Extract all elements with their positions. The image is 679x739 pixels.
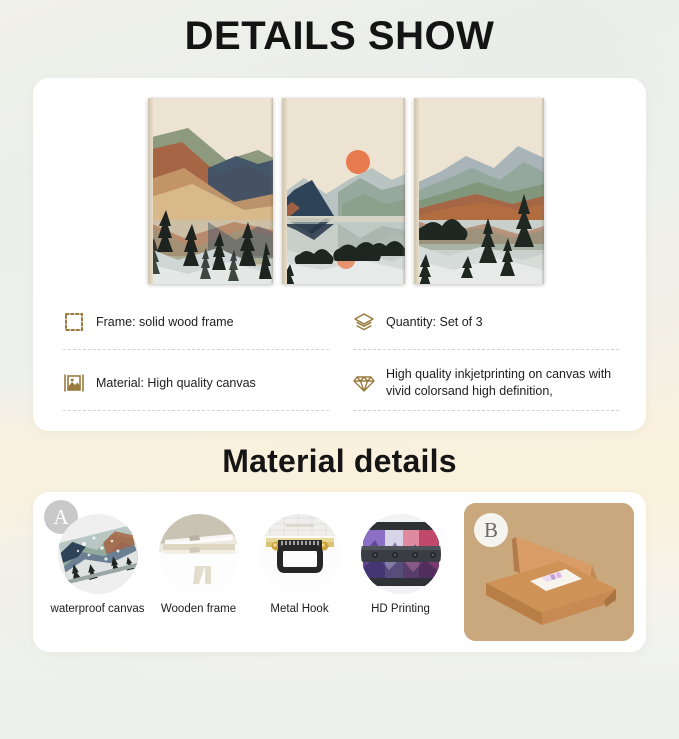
feature-label: Frame: solid wood frame <box>96 314 234 331</box>
feature-label: Quantity: Set of 3 <box>386 314 483 331</box>
feature-label: Material: High quality canvas <box>96 375 256 392</box>
canvas-edge-left <box>414 98 419 284</box>
feature-column-left: Frame: solid wood frame M <box>63 300 329 411</box>
material-thumb-label: Metal Hook <box>249 603 350 615</box>
canvas-panel-right <box>414 98 544 284</box>
material-thumb-wooden-frame: Wooden frame <box>148 514 249 615</box>
canvas-edge-left <box>282 98 287 284</box>
feature-column-right: Quantity: Set of 3 High q <box>353 300 619 411</box>
diamond-icon <box>353 372 375 394</box>
metal-hook-image <box>260 514 340 594</box>
canvas-edge-right <box>270 98 273 284</box>
wooden-frame-image <box>159 514 239 594</box>
material-thumb-hd-printing: HD Printing <box>350 514 451 615</box>
material-thumb-metal-hook: Metal Hook <box>249 514 350 615</box>
hd-printing-image <box>361 514 441 594</box>
feature-divider <box>63 349 329 350</box>
feature-row-quantity: Quantity: Set of 3 <box>353 300 619 350</box>
frame-icon <box>63 311 85 333</box>
badge-b: B <box>474 513 508 547</box>
material-thumb-list: waterproof canvas <box>47 514 451 615</box>
feature-label: High quality inkjetprinting on canvas wi… <box>386 366 619 400</box>
feature-row-frame: Frame: solid wood frame <box>63 300 329 350</box>
triptych-artwork <box>148 98 544 284</box>
section-title-material: Material details <box>0 443 679 480</box>
material-details-card: A <box>33 492 646 652</box>
feature-divider <box>63 410 329 411</box>
canvas-panel-left <box>148 98 273 284</box>
canvas-panel-center <box>282 98 405 284</box>
material-thumb-label: waterproof canvas <box>47 603 148 615</box>
canvas-edge-right <box>402 98 405 284</box>
picture-icon <box>63 372 85 394</box>
layers-icon <box>353 311 375 333</box>
canvas-edge-right <box>541 98 544 284</box>
material-thumb-label: HD Printing <box>350 603 451 615</box>
material-thumb-waterproof-canvas: waterproof canvas <box>47 514 148 615</box>
packaging-panel: B <box>464 503 634 641</box>
page-title: DETAILS SHOW <box>0 14 679 59</box>
material-thumb-label: Wooden frame <box>148 603 249 615</box>
canvas-edge-left <box>148 98 153 284</box>
feature-divider <box>353 410 619 411</box>
feature-row-printing: High quality inkjetprinting on canvas wi… <box>353 361 619 411</box>
feature-divider <box>353 349 619 350</box>
details-card: Frame: solid wood frame M <box>33 78 646 431</box>
feature-row-material: Material: High quality canvas <box>63 361 329 411</box>
waterproof-canvas-image <box>58 514 138 594</box>
